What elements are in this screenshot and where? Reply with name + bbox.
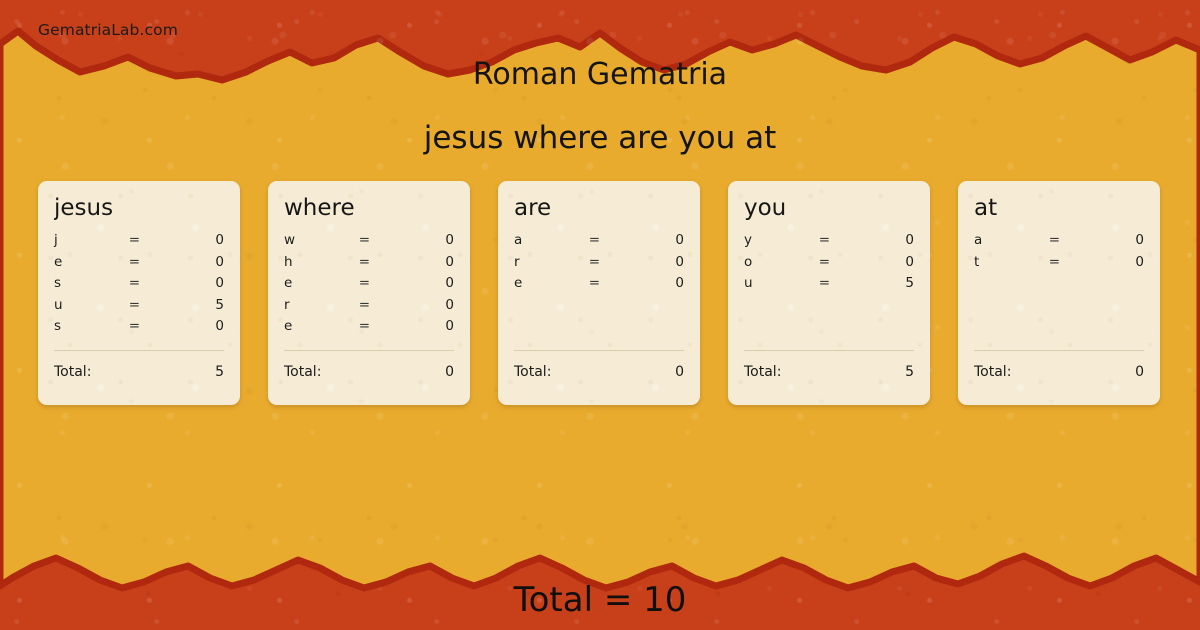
letter-glyph: t	[974, 254, 1049, 270]
card-total-label: Total:	[974, 364, 1135, 380]
letter-value: 0	[396, 318, 454, 334]
letter-row: e=0	[54, 254, 224, 276]
card-total-label: Total:	[284, 364, 445, 380]
letter-row: a=0	[514, 232, 684, 254]
letter-glyph: s	[54, 318, 129, 334]
letter-value: 0	[396, 254, 454, 270]
site-watermark[interactable]: GematriaLab.com	[38, 21, 178, 39]
letter-value: 0	[166, 232, 224, 248]
equals-sign: =	[129, 254, 166, 270]
letter-glyph: u	[54, 297, 129, 313]
card-total-row: Total:5	[54, 351, 224, 380]
card-total-value: 0	[445, 364, 454, 380]
card-total-label: Total:	[744, 364, 905, 380]
letter-row: r=0	[514, 254, 684, 276]
letter-glyph: w	[284, 232, 359, 248]
card-total-value: 0	[675, 364, 684, 380]
equals-sign: =	[129, 318, 166, 334]
letter-row: u=5	[744, 275, 914, 297]
letter-value: 0	[396, 297, 454, 313]
grand-total: Total = 10	[0, 580, 1200, 620]
letter-value: 0	[1086, 254, 1144, 270]
card-word-title: at	[974, 195, 1144, 221]
card-word-title: where	[284, 195, 454, 221]
letter-glyph: a	[974, 232, 1049, 248]
letter-glyph: e	[514, 275, 589, 291]
letter-value: 5	[166, 297, 224, 313]
letter-glyph: e	[284, 318, 359, 334]
letter-row: s=0	[54, 275, 224, 297]
letter-glyph: a	[514, 232, 589, 248]
letter-value: 0	[856, 254, 914, 270]
equals-sign: =	[1049, 254, 1086, 270]
letter-glyph: o	[744, 254, 819, 270]
letter-value: 0	[396, 275, 454, 291]
letter-value: 0	[166, 254, 224, 270]
letter-value: 5	[856, 275, 914, 291]
letter-row-group: j=0e=0s=0u=5s=0	[54, 232, 224, 350]
equals-sign: =	[819, 254, 856, 270]
letter-value: 0	[856, 232, 914, 248]
equals-sign: =	[359, 254, 396, 270]
card-total-row: Total:0	[514, 351, 684, 380]
card-total-value: 0	[1135, 364, 1144, 380]
letter-row-group: a=0t=0	[974, 232, 1144, 350]
letter-glyph: j	[54, 232, 129, 248]
card-total-label: Total:	[514, 364, 675, 380]
equals-sign: =	[819, 232, 856, 248]
letter-row: j=0	[54, 232, 224, 254]
letter-row-group: a=0r=0e=0	[514, 232, 684, 350]
equals-sign: =	[129, 275, 166, 291]
equals-sign: =	[129, 297, 166, 313]
word-card: area=0r=0e=0Total:0	[498, 181, 700, 405]
word-card: wherew=0h=0e=0r=0e=0Total:0	[268, 181, 470, 405]
word-card: youy=0o=0u=5Total:5	[728, 181, 930, 405]
letter-row: a=0	[974, 232, 1144, 254]
card-total-value: 5	[215, 364, 224, 380]
word-card-list: jesusj=0e=0s=0u=5s=0Total:5wherew=0h=0e=…	[38, 181, 1162, 405]
equals-sign: =	[359, 318, 396, 334]
letter-glyph: e	[54, 254, 129, 270]
letter-glyph: e	[284, 275, 359, 291]
letter-glyph: y	[744, 232, 819, 248]
letter-value: 0	[626, 232, 684, 248]
letter-row: e=0	[284, 318, 454, 340]
letter-glyph: s	[54, 275, 129, 291]
page-title: Roman Gematria	[0, 57, 1200, 92]
letter-value: 0	[626, 275, 684, 291]
equals-sign: =	[819, 275, 856, 291]
equals-sign: =	[589, 275, 626, 291]
gematria-result-card: GematriaLab.com Roman Gematria jesus whe…	[0, 0, 1200, 630]
letter-row: y=0	[744, 232, 914, 254]
letter-glyph: r	[514, 254, 589, 270]
card-word-title: are	[514, 195, 684, 221]
letter-row-group: w=0h=0e=0r=0e=0	[284, 232, 454, 350]
card-word-title: you	[744, 195, 914, 221]
letter-row: o=0	[744, 254, 914, 276]
letter-row: u=5	[54, 297, 224, 319]
letter-row: e=0	[284, 275, 454, 297]
equals-sign: =	[359, 297, 396, 313]
card-total-label: Total:	[54, 364, 215, 380]
card-total-row: Total:5	[744, 351, 914, 380]
equals-sign: =	[589, 232, 626, 248]
input-phrase: jesus where are you at	[0, 120, 1200, 156]
letter-value: 0	[1086, 232, 1144, 248]
letter-value: 0	[626, 254, 684, 270]
letter-row: w=0	[284, 232, 454, 254]
letter-row: s=0	[54, 318, 224, 340]
letter-row: r=0	[284, 297, 454, 319]
letter-row: t=0	[974, 254, 1144, 276]
card-word-title: jesus	[54, 195, 224, 221]
letter-value: 0	[166, 275, 224, 291]
letter-value: 0	[166, 318, 224, 334]
word-card: ata=0t=0Total:0	[958, 181, 1160, 405]
letter-glyph: u	[744, 275, 819, 291]
equals-sign: =	[129, 232, 166, 248]
letter-row-group: y=0o=0u=5	[744, 232, 914, 350]
letter-row: e=0	[514, 275, 684, 297]
equals-sign: =	[589, 254, 626, 270]
word-card: jesusj=0e=0s=0u=5s=0Total:5	[38, 181, 240, 405]
letter-glyph: r	[284, 297, 359, 313]
letter-row: h=0	[284, 254, 454, 276]
equals-sign: =	[359, 275, 396, 291]
letter-glyph: h	[284, 254, 359, 270]
equals-sign: =	[359, 232, 396, 248]
card-total-value: 5	[905, 364, 914, 380]
card-total-row: Total:0	[284, 351, 454, 380]
equals-sign: =	[1049, 232, 1086, 248]
card-total-row: Total:0	[974, 351, 1144, 380]
letter-value: 0	[396, 232, 454, 248]
